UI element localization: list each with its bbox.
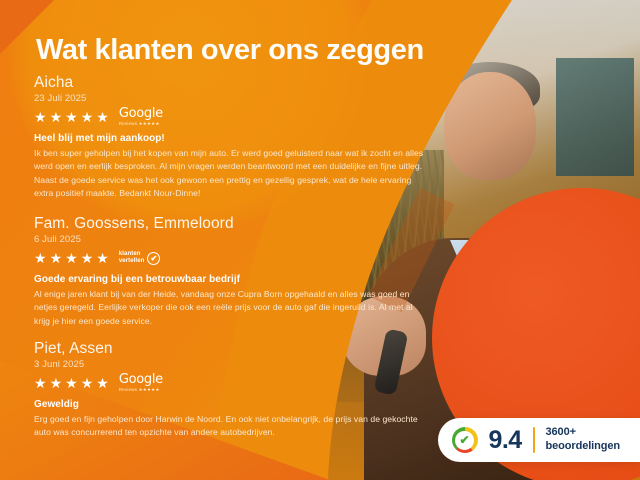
star-icon: ★ [65, 376, 78, 390]
score-count-label: beoordelingen [546, 440, 620, 454]
star-icon: ★ [50, 110, 63, 124]
page-title: Wat klanten over ons zeggen [36, 34, 424, 67]
review-headline: Goede ervaring bij een betrouwbaar bedri… [34, 274, 426, 285]
star-icon: ★ [50, 376, 63, 390]
review-date: 23 Juli 2025 [34, 93, 426, 104]
star-icon: ★ [34, 110, 47, 124]
klantenvertellen-label-line1: klanten [119, 251, 145, 258]
star-icon: ★ [81, 251, 94, 265]
star-icon: ★ [96, 251, 109, 265]
review-rating-row: ★★★★★ Google Reviews ★★★★★ [34, 108, 426, 126]
google-reviews-logo: Google Reviews ★★★★★ [119, 373, 163, 393]
reviewer-name: Aicha [34, 74, 426, 91]
score-count: 3600+ beoordelingen [546, 426, 620, 454]
star-icon: ★ [34, 251, 47, 265]
reviewer-name: Fam. Goossens, Emmeloord [34, 215, 426, 232]
review-body: Erg goed en fijn geholpen door Harwin de… [34, 413, 426, 440]
reviewer-name: Piet, Assen [34, 340, 426, 357]
verified-check-glyph: ✔ [455, 431, 474, 450]
star-icon: ★ [81, 110, 94, 124]
review-rating-row: ★★★★★ Google Reviews ★★★★★ [34, 374, 426, 392]
star-rating: ★★★★★ [34, 376, 109, 390]
score-count-number: 3600+ [546, 426, 620, 440]
klantenvertellen-label-line2: vertellen [119, 258, 145, 265]
star-icon: ★ [50, 251, 63, 265]
star-icon: ★ [65, 251, 78, 265]
verified-seal-icon: ✔ [452, 427, 478, 453]
star-icon: ★ [96, 110, 109, 124]
checkmark-circle-icon: ✔ [147, 252, 160, 265]
star-icon: ★ [96, 376, 109, 390]
google-reviews-logo: Google Reviews ★★★★★ [119, 107, 163, 127]
star-icon: ★ [81, 376, 94, 390]
review-body: Ik ben super geholpen bij het kopen van … [34, 147, 426, 200]
review-card: Piet, Assen 3 Juni 2025 ★★★★★ Google Rev… [34, 340, 426, 440]
star-rating: ★★★★★ [34, 110, 109, 124]
google-logo-text: Google [119, 107, 163, 120]
star-rating: ★★★★★ [34, 251, 109, 265]
klantenvertellen-logo: klanten vertellen ✔ [119, 251, 161, 264]
review-card: Aicha 23 Juli 2025 ★★★★★ Google Reviews … [34, 74, 426, 200]
content-layer: Wat klanten over ons zeggen Aicha 23 Jul… [0, 0, 640, 480]
review-rating-row: ★★★★★ klanten vertellen ✔ [34, 249, 426, 267]
review-headline: Heel blij met mijn aankoop! [34, 133, 426, 144]
google-logo-subtext: Reviews ★★★★★ [119, 387, 160, 393]
star-icon: ★ [34, 376, 47, 390]
score-divider [533, 427, 535, 453]
score-value: 9.4 [489, 428, 522, 453]
score-badge[interactable]: ✔ 9.4 3600+ beoordelingen [438, 418, 640, 462]
review-body: Al enige jaren klant bij van der Heide, … [34, 288, 426, 328]
review-date: 3 Juni 2025 [34, 359, 426, 370]
klantenvertellen-label: klanten vertellen [119, 251, 145, 264]
review-headline: Geweldig [34, 399, 426, 410]
star-icon: ★ [65, 110, 78, 124]
review-card: Fam. Goossens, Emmeloord 6 Juli 2025 ★★★… [34, 215, 426, 328]
google-logo-text: Google [119, 373, 163, 386]
google-logo-subtext: Reviews ★★★★★ [119, 121, 160, 127]
review-date: 6 Juli 2025 [34, 234, 426, 245]
